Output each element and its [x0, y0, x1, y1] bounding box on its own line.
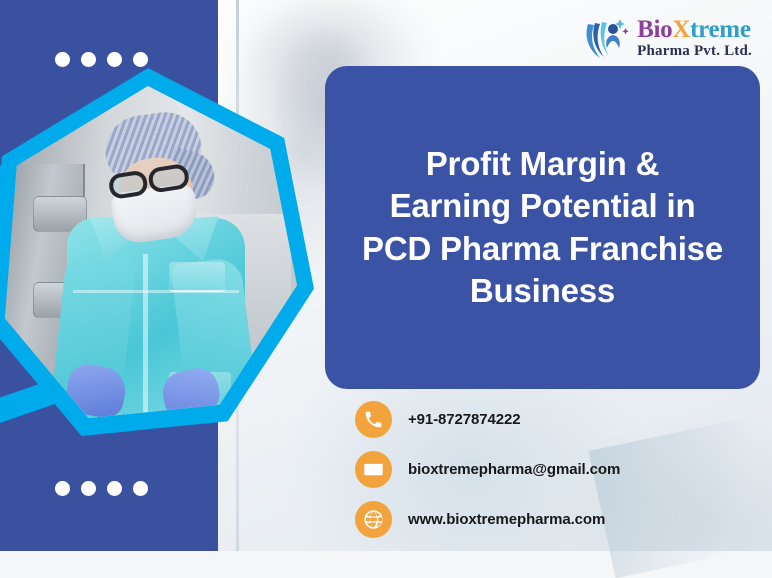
- phone-number: +91-8727874222: [408, 411, 520, 428]
- brand-logo-text: BioXtreme Pharma Pvt. Ltd.: [637, 17, 752, 59]
- worker-figure: [57, 114, 247, 418]
- contact-row-website[interactable]: www.bioxtremepharma.com: [355, 496, 620, 542]
- dot: [81, 481, 96, 496]
- contact-row-phone[interactable]: +91-8727874222: [355, 396, 620, 442]
- cart-wheel: [267, 374, 283, 390]
- decorative-dots-bottom: [55, 481, 148, 496]
- decorative-dots-top: [55, 52, 148, 67]
- glasses-lens-right: [147, 163, 190, 194]
- headline-line-3: PCD Pharma Franchise: [362, 228, 723, 270]
- website-url: www.bioxtremepharma.com: [408, 511, 605, 528]
- brand-name-part1: Bio: [637, 16, 672, 43]
- headline-card: Profit Margin & Earning Potential in PCD…: [325, 66, 760, 389]
- brand-name-part2: X: [672, 16, 690, 43]
- headline-line-2: Earning Potential in: [362, 185, 723, 227]
- dot: [55, 481, 70, 496]
- brand-tagline: Pharma Pvt. Ltd.: [637, 44, 752, 59]
- brand-logo[interactable]: BioXtreme Pharma Pvt. Ltd.: [582, 14, 752, 62]
- hexagon-photo-badge: [0, 68, 314, 436]
- worker-placket: [143, 254, 148, 418]
- dot: [133, 481, 148, 496]
- brand-name: BioXtreme: [637, 17, 752, 42]
- brand-name-part3: treme: [690, 16, 751, 43]
- dot: [55, 52, 70, 67]
- person-swoosh-logo-icon: [582, 14, 630, 62]
- glasses-lens-left: [108, 169, 149, 200]
- dot: [81, 52, 96, 67]
- dot: [107, 52, 122, 67]
- globe-icon: [355, 501, 392, 538]
- contact-row-email[interactable]: bioxtremepharma@gmail.com: [355, 446, 620, 492]
- page-title: Profit Margin & Earning Potential in PCD…: [356, 143, 729, 312]
- phone-icon: [355, 401, 392, 438]
- dot: [107, 481, 122, 496]
- contact-list: +91-8727874222 bioxtremepharma@gmail.com…: [355, 396, 620, 546]
- email-address: bioxtremepharma@gmail.com: [408, 461, 620, 478]
- headline-line-4: Business: [362, 270, 723, 312]
- email-icon: [355, 451, 392, 488]
- headline-line-1: Profit Margin &: [362, 143, 723, 185]
- dot: [133, 52, 148, 67]
- worker-chest-pocket: [169, 262, 225, 292]
